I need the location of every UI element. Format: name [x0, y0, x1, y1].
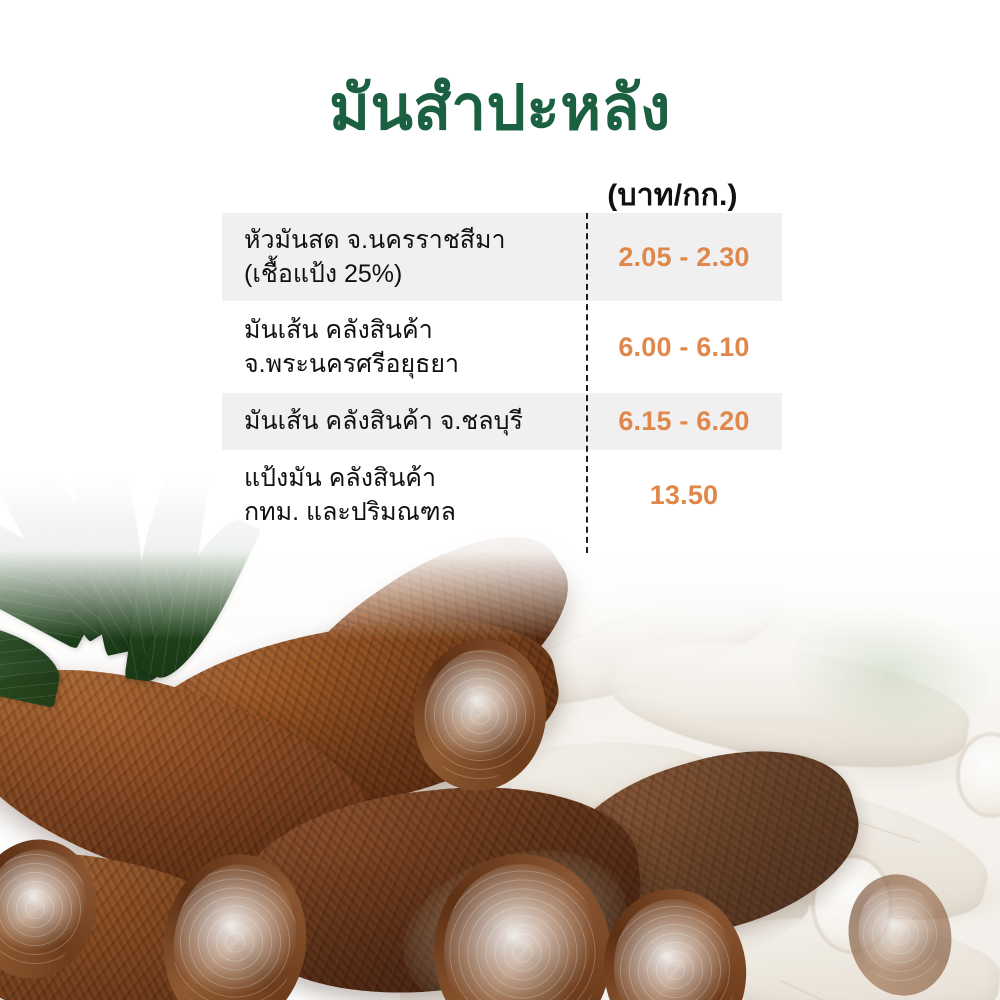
poster-content: มันสำปะหลัง (บาท/กก.) หัวมันสด จ.นครราชส… [0, 0, 1000, 1000]
page-title: มันสำปะหลัง [0, 76, 1000, 143]
column-divider [586, 213, 588, 553]
table-row-label: มันเส้น คลังสินค้า จ.พระนครศรีอยุธยา [222, 313, 586, 382]
table-row-price: 6.00 - 6.10 [586, 332, 782, 363]
table-row-label: มันเส้น คลังสินค้า จ.ชลบุรี [222, 404, 586, 439]
table-row-label-line1: มันเส้น คลังสินค้า [244, 316, 433, 344]
table-row-label: หัวมันสด จ.นครราชสีมา (เชื้อแป้ง 25%) [222, 223, 586, 292]
table-row: แป้งมัน คลังสินค้า กทม. และปริมณฑล 13.50 [222, 450, 782, 540]
table-row-label-line2: กทม. และปริมณฑล [244, 495, 576, 530]
table-row-price: 6.15 - 6.20 [586, 406, 782, 437]
table-row-label-line2: จ.พระนครศรีอยุธยา [244, 347, 576, 382]
table-row-label: แป้งมัน คลังสินค้า กทม. และปริมณฑล [222, 461, 586, 530]
table-row-price: 2.05 - 2.30 [586, 242, 782, 273]
table-row-label-line1: หัวมันสด จ.นครราชสีมา [244, 226, 506, 254]
table-row: มันเส้น คลังสินค้า จ.ชลบุรี 6.15 - 6.20 [222, 393, 782, 450]
price-table: หัวมันสด จ.นครราชสีมา (เชื้อแป้ง 25%) 2.… [222, 213, 782, 540]
poster-canvas: มันสำปะหลัง (บาท/กก.) หัวมันสด จ.นครราชส… [0, 0, 1000, 1000]
table-row: มันเส้น คลังสินค้า จ.พระนครศรีอยุธยา 6.0… [222, 301, 782, 393]
table-row-label-line2: (เชื้อแป้ง 25%) [244, 257, 576, 292]
table-row-price: 13.50 [586, 480, 782, 511]
table-row: หัวมันสด จ.นครราชสีมา (เชื้อแป้ง 25%) 2.… [222, 213, 782, 301]
table-row-label-line1: มันเส้น คลังสินค้า จ.ชลบุรี [244, 407, 523, 435]
table-row-label-line1: แป้งมัน คลังสินค้า [244, 464, 436, 492]
unit-header-label: (บาท/กก.) [560, 172, 785, 219]
